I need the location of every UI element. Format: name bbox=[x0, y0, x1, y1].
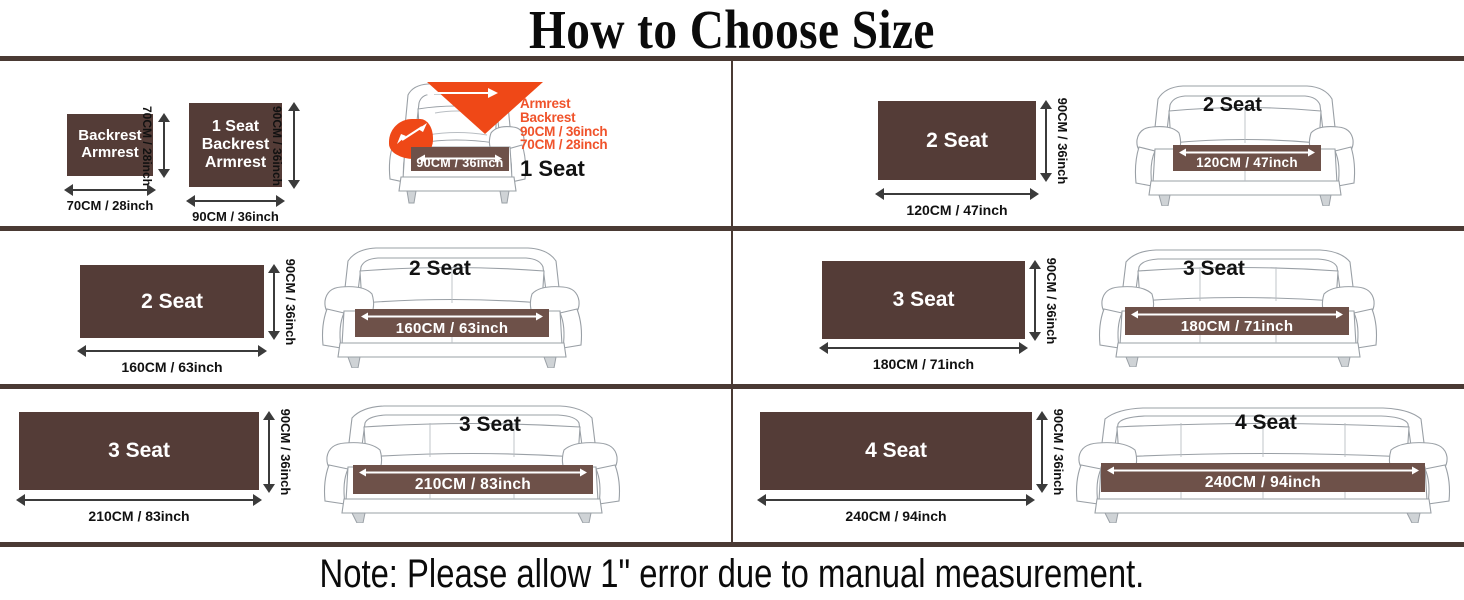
swatch-4-seat-240: 4 Seat bbox=[760, 412, 1032, 490]
cell-3-seat-180: 3 Seat 180CM / 71inch 90CM / 36inch bbox=[733, 231, 1464, 384]
cell-1-seat: Backrest Armrest 70CM / 28inch 70CM / 28… bbox=[0, 61, 731, 226]
seat-width-arrow-icon bbox=[1179, 149, 1315, 158]
seat-width-label: 210CM / 83inch bbox=[415, 476, 531, 494]
seat-label-3-seat-180: 3 Seat bbox=[1183, 257, 1245, 281]
arrow-down-icon bbox=[263, 484, 275, 493]
seat-width-band-1-seat: 90CM / 36inch bbox=[411, 147, 509, 171]
dim-height-70-label: 70CM / 28inch bbox=[140, 105, 154, 185]
swatch-2-seat-120: 2 Seat bbox=[878, 101, 1036, 180]
dim-height-90-c4-label: 90CM / 36inch bbox=[1044, 257, 1059, 344]
seat-label-2-seat-160: 2 Seat bbox=[409, 257, 471, 281]
dim-width-120-label: 120CM / 47inch bbox=[906, 202, 1007, 218]
seat-width-band-3-seat-210: 210CM / 83inch bbox=[353, 465, 593, 494]
seat-width-arrow-icon bbox=[1131, 311, 1343, 320]
dim-width-160-label: 160CM / 63inch bbox=[121, 359, 222, 375]
armrest-width-arrow-icon bbox=[397, 123, 427, 145]
arrow-right-icon bbox=[147, 184, 156, 196]
dim-height-90-c6: 90CM / 36inch bbox=[1035, 411, 1049, 493]
dim-width-90-label: 90CM / 36inch bbox=[192, 209, 279, 224]
dim-width-160: 160CM / 63inch bbox=[77, 344, 267, 358]
arrow-down-icon bbox=[1040, 173, 1052, 182]
arrow-right-icon bbox=[253, 494, 262, 506]
footer-note-text: Note: Please allow 1" error due to manua… bbox=[320, 552, 1145, 597]
cell-4-seat-240: 4 Seat 240CM / 94inch 90CM / 36inch bbox=[733, 389, 1464, 542]
arrow-down-icon bbox=[1036, 484, 1048, 493]
swatch-2-seat-160: 2 Seat bbox=[80, 265, 264, 338]
dim-height-90-label: 90CM / 36inch bbox=[270, 105, 284, 185]
dim-height-90-c2: 90CM / 36inch bbox=[1039, 100, 1053, 182]
seat-label-1-seat: 1 Seat bbox=[520, 156, 585, 182]
swatch-3-seat-180: 3 Seat bbox=[822, 261, 1025, 339]
arrow-down-icon bbox=[288, 180, 300, 189]
dim-width-180: 180CM / 71inch bbox=[819, 341, 1028, 355]
dim-height-90-c2-label: 90CM / 36inch bbox=[1055, 98, 1070, 185]
dim-width-180-label: 180CM / 71inch bbox=[873, 356, 974, 372]
size-chart-sheet: How to Choose Size Backrest Armrest 70CM… bbox=[0, 0, 1464, 600]
arrow-right-icon bbox=[276, 195, 285, 207]
arrow-down-icon bbox=[268, 331, 280, 340]
arrow-right-icon bbox=[1019, 342, 1028, 354]
seat-width-arrow-icon bbox=[361, 313, 543, 322]
cell-2-seat-120: 2 Seat 120CM / 47inch 90CM / 36inch bbox=[733, 61, 1464, 226]
dim-width-210-label: 210CM / 83inch bbox=[88, 508, 189, 524]
dim-height-90-c5-label: 90CM / 36inch bbox=[278, 409, 293, 496]
cell-2-seat-160: 2 Seat 160CM / 63inch 90CM / 36inch bbox=[0, 231, 731, 384]
seat-width-arrow-icon bbox=[418, 155, 502, 164]
page-title: How to Choose Size bbox=[529, 0, 935, 61]
swatch-1-seat-90: 1 Seat Backrest Armrest bbox=[189, 103, 282, 187]
dim-width-240-label: 240CM / 94inch bbox=[845, 508, 946, 524]
seat-width-label: 160CM / 63inch bbox=[396, 320, 509, 337]
dim-height-90-c3: 90CM / 36inch bbox=[267, 264, 281, 340]
seat-label-4-seat-240: 4 Seat bbox=[1235, 411, 1297, 435]
dim-width-90: 90CM / 36inch bbox=[186, 194, 285, 208]
chart-title-bar: How to Choose Size bbox=[0, 0, 1464, 58]
seat-label-3-seat-210: 3 Seat bbox=[459, 413, 521, 437]
armrest-backrest-annotation: Armrest Backrest 90CM / 36inch 70CM / 28… bbox=[520, 97, 607, 152]
swatch-3-seat-210: 3 Seat bbox=[19, 412, 259, 490]
arrow-right-icon bbox=[1026, 494, 1035, 506]
footer-note: Note: Please allow 1" error due to manua… bbox=[0, 548, 1464, 600]
dim-width-120: 120CM / 47inch bbox=[875, 187, 1039, 201]
seat-width-band-2-seat-160: 160CM / 63inch bbox=[355, 309, 549, 337]
arrow-right-icon bbox=[258, 345, 267, 357]
backrest-width-arrow-icon bbox=[424, 86, 498, 100]
seat-width-band-3-seat-180: 180CM / 71inch bbox=[1125, 307, 1349, 335]
cell-3-seat-210: 3 Seat 210CM / 83inch 90CM / 36inch bbox=[0, 389, 731, 542]
seat-width-label: 180CM / 71inch bbox=[1181, 318, 1294, 335]
dim-height-90: 90CM / 36inch bbox=[287, 102, 301, 189]
seat-label-2-seat-120: 2 Seat bbox=[1203, 94, 1262, 117]
dim-width-70-label: 70CM / 28inch bbox=[67, 198, 154, 213]
dim-height-70: 70CM / 28inch bbox=[157, 113, 171, 178]
seat-width-band-4-seat-240: 240CM / 94inch bbox=[1101, 463, 1425, 492]
dim-height-90-c3-label: 90CM / 36inch bbox=[283, 259, 298, 346]
arrow-down-icon bbox=[158, 169, 170, 178]
dim-height-90-c5: 90CM / 36inch bbox=[262, 411, 276, 493]
arrow-down-icon bbox=[1029, 332, 1041, 341]
dim-width-240: 240CM / 94inch bbox=[757, 493, 1035, 507]
dim-width-210: 210CM / 83inch bbox=[16, 493, 262, 507]
seat-width-arrow-icon bbox=[1107, 467, 1419, 476]
seat-width-label: 240CM / 94inch bbox=[1205, 474, 1321, 492]
seat-width-band-2-seat-120: 120CM / 47inch bbox=[1173, 145, 1321, 171]
arrow-right-icon bbox=[1030, 188, 1039, 200]
seat-width-arrow-icon bbox=[359, 469, 587, 478]
dim-height-90-c4: 90CM / 36inch bbox=[1028, 260, 1042, 341]
